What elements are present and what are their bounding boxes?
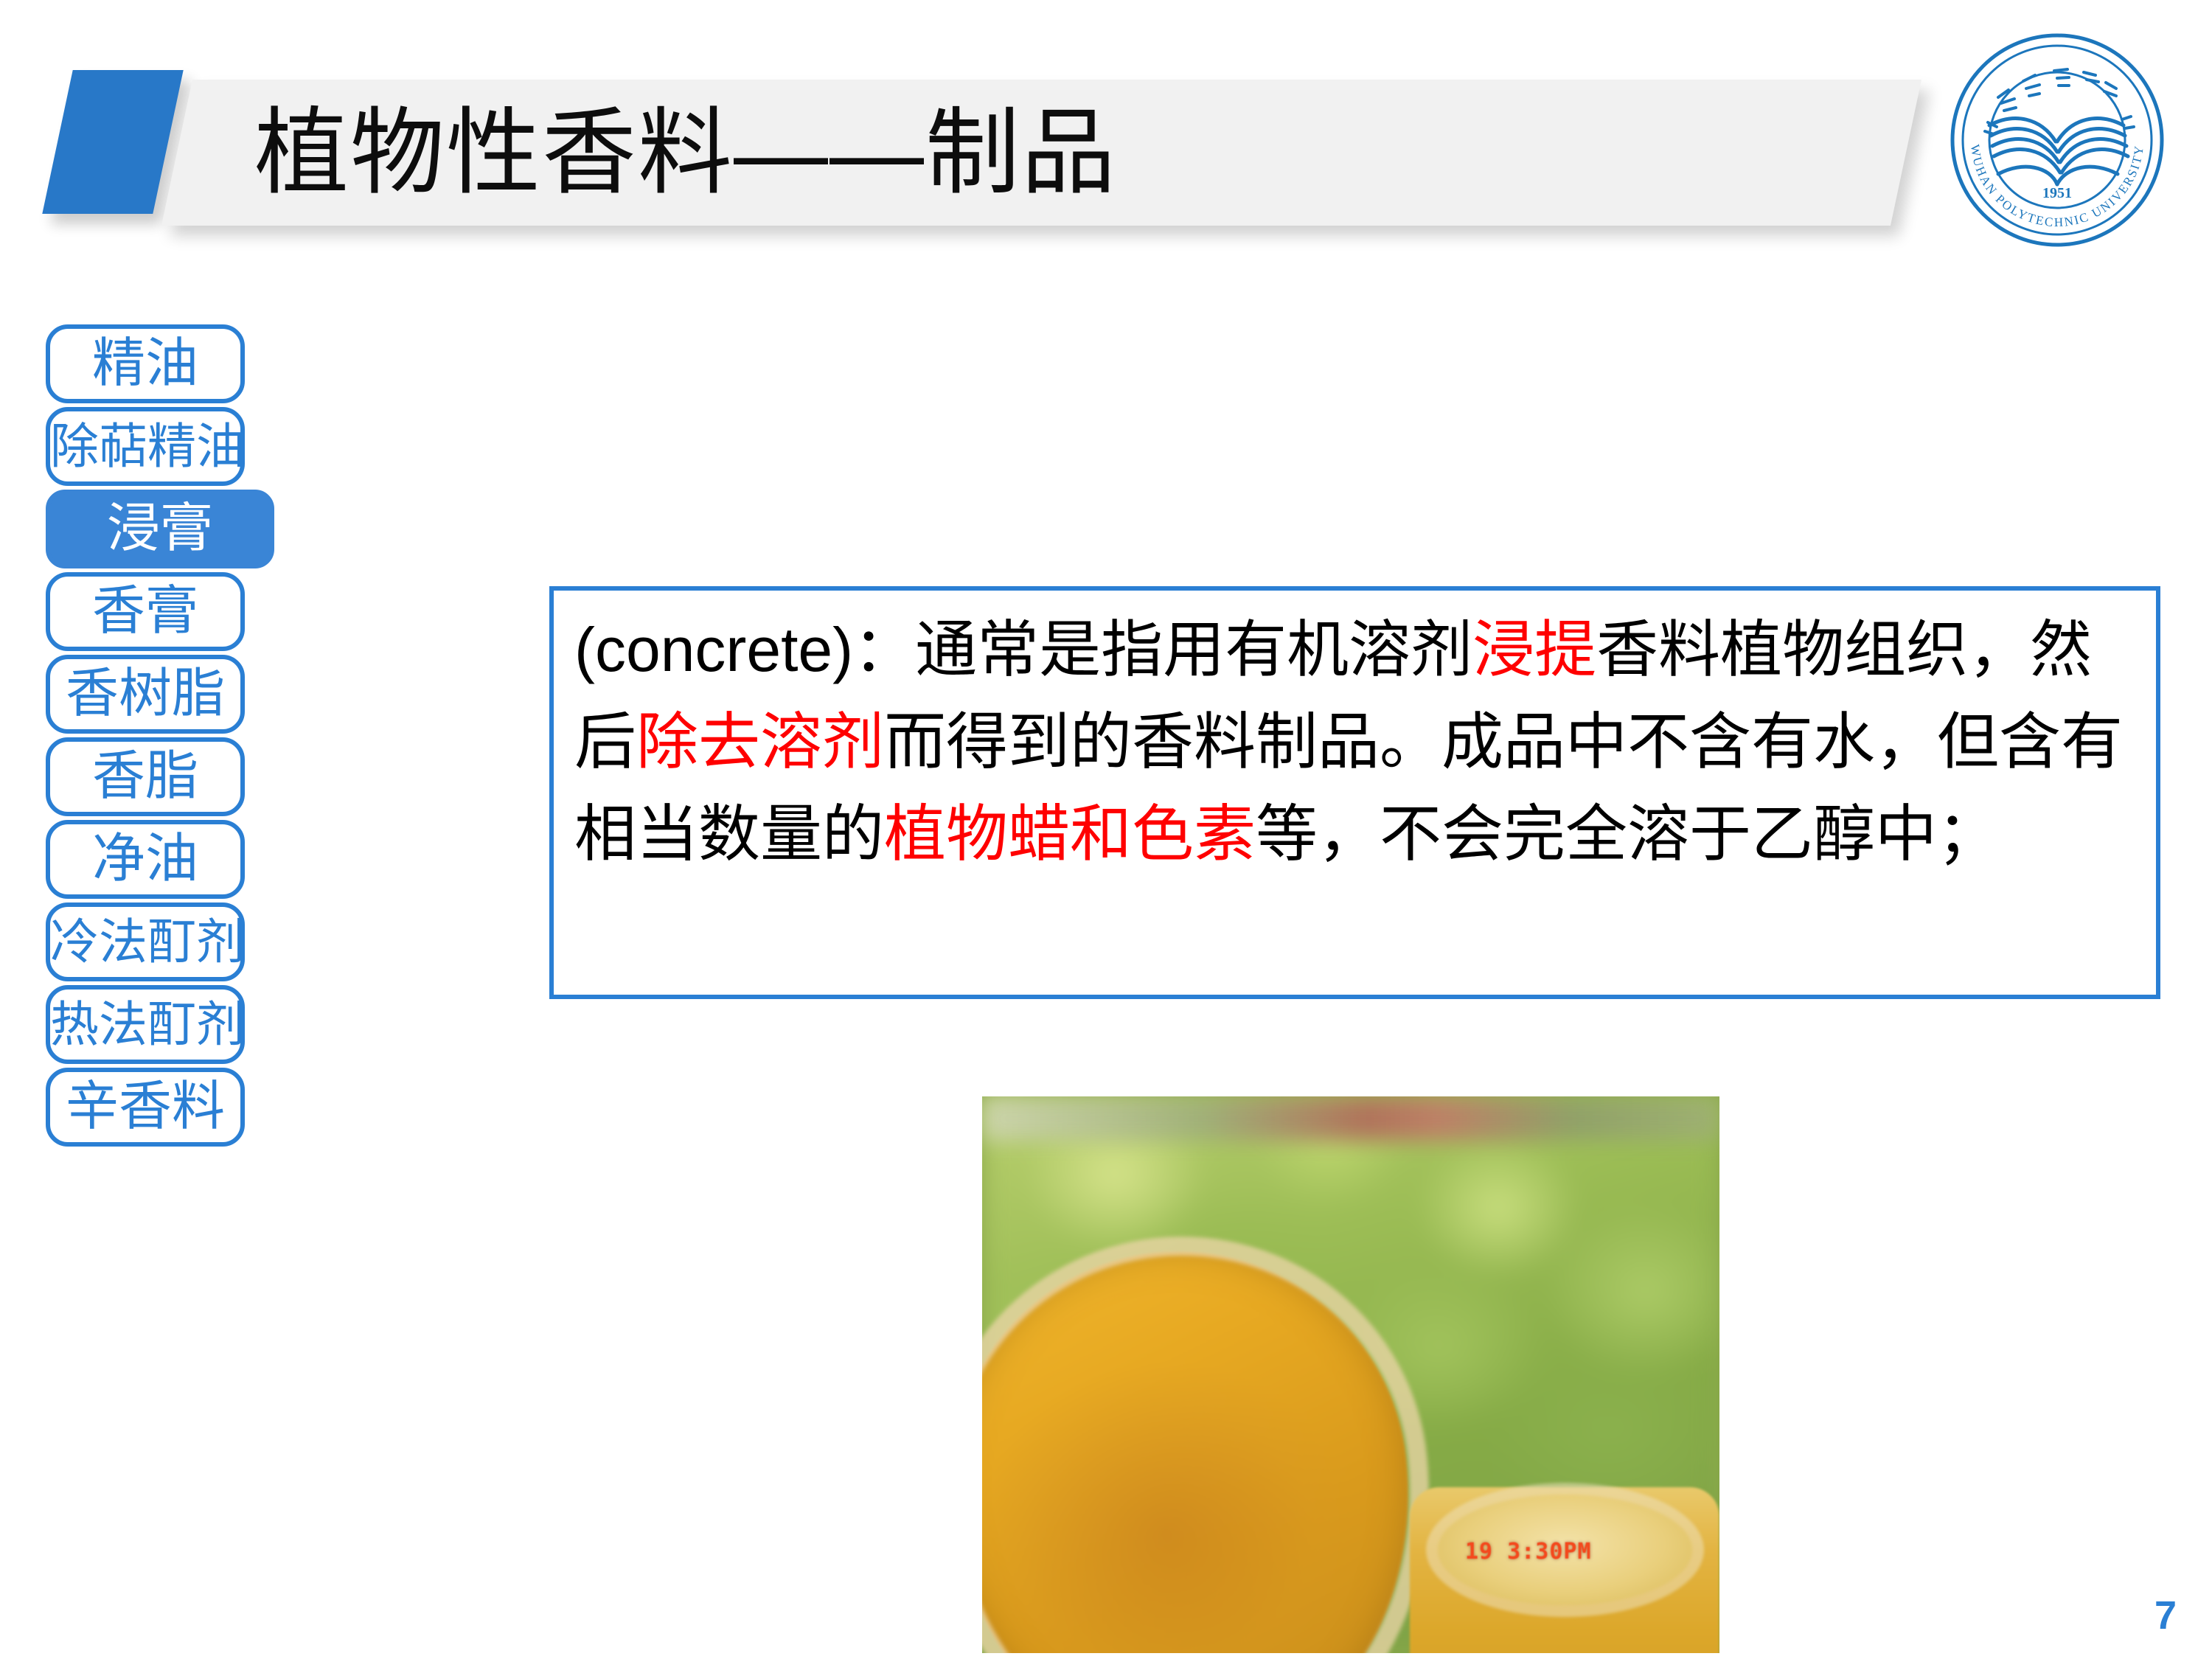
sidebar-item-jingyou-net[interactable]: 净油 (46, 820, 245, 899)
definition-segment-highlight: 浸提 (1472, 615, 1596, 684)
sidebar-item-lengfa-dingji[interactable]: 冷法酊剂 (46, 902, 245, 981)
sidebar-item-chutie-jingyou[interactable]: 除萜精油 (46, 407, 245, 486)
sidebar-item-xinxiangliao[interactable]: 辛香料 (46, 1068, 245, 1147)
category-sidebar: 精油 除萜精油 浸膏 香膏 香树脂 香脂 净油 冷法酊剂 热法酊剂 辛香料 (46, 324, 245, 1150)
slide-header: 植物性香料——制品 (0, 0, 2212, 280)
definition-segment-highlight: 植物蜡和色素 (884, 799, 1256, 869)
svg-text:1951: 1951 (2042, 185, 2072, 201)
definition-segment: (concrete)：通常是指用有机溶剂 (574, 615, 1472, 684)
header-accent-parallelogram (42, 70, 183, 214)
photo-background-blur-band (982, 1096, 1719, 1141)
sidebar-item-jingao[interactable]: 浸膏 (46, 490, 274, 568)
page-title: 植物性香料——制品 (254, 87, 1803, 220)
slide-number: 7 (2154, 1593, 2177, 1638)
sidebar-item-jingyou[interactable]: 精油 (46, 324, 245, 403)
university-logo: 1951 WUHAN POLYTECHNIC UNIVERSITY (1947, 29, 2168, 251)
definition-segment: 等，不会完全溶于乙醇中； (1256, 799, 1999, 869)
sidebar-item-xiangshuzhi[interactable]: 香树脂 (46, 655, 245, 734)
definition-text: (concrete)：通常是指用有机溶剂浸提香料植物组织，然后除去溶剂而得到的香… (574, 604, 2135, 880)
sidebar-item-xiangzhi[interactable]: 香脂 (46, 737, 245, 816)
sidebar-item-xianggao[interactable]: 香膏 (46, 572, 245, 651)
concrete-product-photo: 19 3:30PM (982, 1096, 1719, 1653)
photo-timestamp: 19 3:30PM (1465, 1539, 1592, 1565)
definition-panel: (concrete)：通常是指用有机溶剂浸提香料植物组织，然后除去溶剂而得到的香… (549, 586, 2160, 999)
definition-segment-highlight: 除去溶剂 (636, 707, 884, 776)
sidebar-item-refa-dingji[interactable]: 热法酊剂 (46, 985, 245, 1064)
